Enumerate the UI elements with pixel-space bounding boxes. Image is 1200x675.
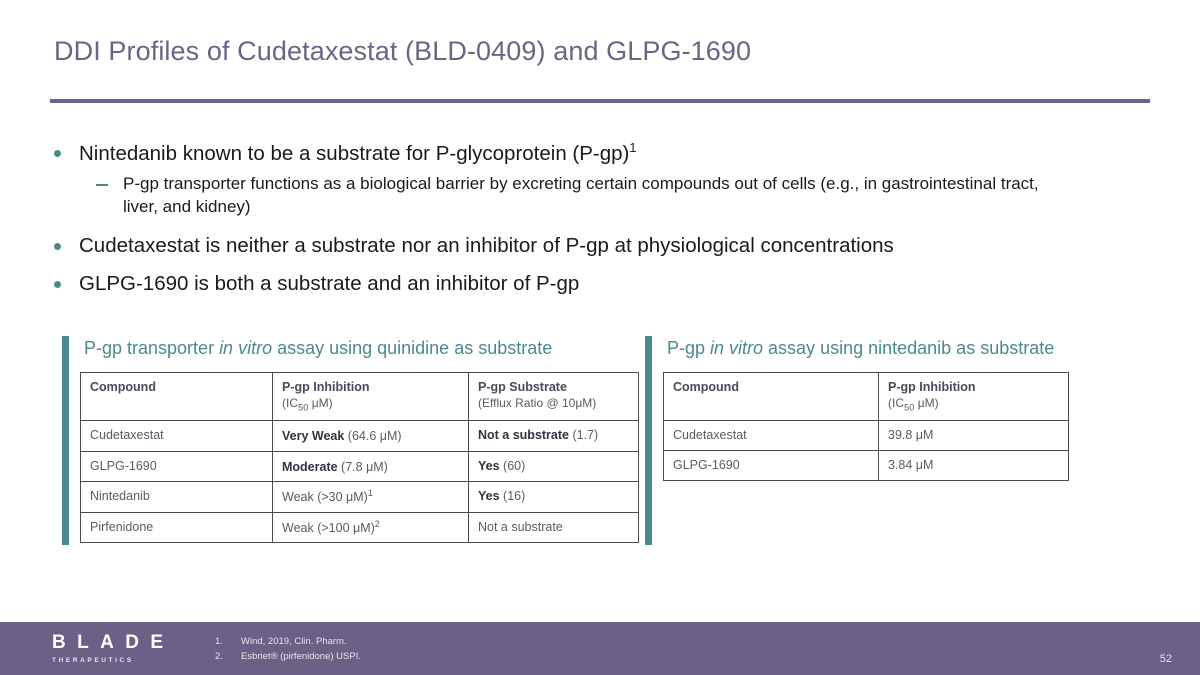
cell-substrate: Not a substrate bbox=[469, 512, 639, 542]
cell-compound: Nintedanib bbox=[81, 482, 273, 512]
footnote-item: 2. Esbriet® (pirfenidone) USPI. bbox=[215, 650, 361, 665]
cell-compound: Cudetaxestat bbox=[664, 421, 879, 451]
bullet-list: Nintedanib known to be a substrate for P… bbox=[54, 140, 1144, 304]
table-row: Nintedanib Weak (>30 μM)1 Yes (16) bbox=[81, 482, 639, 512]
brand-logo: B L A D E THERAPEUTICS bbox=[52, 633, 164, 664]
logo-letter: B bbox=[52, 633, 67, 652]
panel-accent-bar bbox=[645, 336, 652, 545]
column-header-inhibition: P-gp Inhibition (IC50 μM) bbox=[273, 372, 469, 421]
page-number: 52 bbox=[1160, 653, 1172, 665]
footnote-number: 2. bbox=[215, 650, 241, 665]
footnote-number: 1. bbox=[215, 635, 241, 650]
table-row: GLPG-1690 3.84 μM bbox=[664, 451, 1069, 481]
logo-tagline: THERAPEUTICS bbox=[52, 657, 164, 664]
column-header-substrate: P-gp Substrate (Efflux Ratio @ 10μM) bbox=[469, 372, 639, 421]
footnote-item: 1. Wind, 2019, Clin. Pharm. bbox=[215, 635, 361, 650]
list-item: Cudetaxestat is neither a substrate nor … bbox=[54, 233, 1144, 260]
table-row: GLPG-1690 Moderate (7.8 μM) Yes (60) bbox=[81, 451, 639, 481]
left-assay-table: Compound P-gp Inhibition (IC50 μM) P-gp … bbox=[80, 372, 639, 544]
logo-letter: L bbox=[77, 633, 90, 652]
bullet-dash-icon bbox=[96, 184, 108, 186]
cell-compound: Cudetaxestat bbox=[81, 421, 273, 451]
cell-compound: GLPG-1690 bbox=[81, 451, 273, 481]
bullet-dot-icon bbox=[54, 243, 61, 250]
panel-accent-bar bbox=[62, 336, 69, 545]
left-panel-heading: P-gp transporter in vitro assay using qu… bbox=[84, 336, 647, 360]
left-assay-panel: P-gp transporter in vitro assay using qu… bbox=[62, 336, 647, 543]
bullet-dot-icon bbox=[54, 281, 61, 288]
list-item: Nintedanib known to be a substrate for P… bbox=[54, 140, 1144, 167]
column-header-compound: Compound bbox=[664, 372, 879, 421]
bullet-text: Cudetaxestat is neither a substrate nor … bbox=[79, 233, 894, 260]
bullet-dot-icon bbox=[54, 150, 61, 157]
cell-inhibition: Weak (>30 μM)1 bbox=[273, 482, 469, 512]
right-assay-table: Compound P-gp Inhibition (IC50 μM) Cudet… bbox=[663, 372, 1069, 482]
logo-letter: E bbox=[150, 633, 164, 652]
cell-inhibition: 3.84 μM bbox=[879, 451, 1069, 481]
cell-substrate: Yes (16) bbox=[469, 482, 639, 512]
cell-inhibition: Very Weak (64.6 μM) bbox=[273, 421, 469, 451]
column-header-compound: Compound bbox=[81, 372, 273, 421]
footnote-text: Esbriet® (pirfenidone) USPI. bbox=[241, 650, 361, 665]
bullet-text: Nintedanib known to be a substrate for P… bbox=[79, 140, 636, 167]
bullet-text: GLPG-1690 is both a substrate and an inh… bbox=[79, 271, 579, 298]
logo-wordmark: B L A D E bbox=[52, 633, 164, 652]
logo-letter: A bbox=[100, 633, 115, 652]
slide-footer: B L A D E THERAPEUTICS 1. Wind, 2019, Cl… bbox=[0, 622, 1200, 675]
right-assay-panel: P-gp in vitro assay using nintedanib as … bbox=[645, 336, 1085, 481]
table-row: Cudetaxestat Very Weak (64.6 μM) Not a s… bbox=[81, 421, 639, 451]
footnote-ref: 1 bbox=[629, 140, 636, 155]
cell-substrate: Not a substrate (1.7) bbox=[469, 421, 639, 451]
page-title: DDI Profiles of Cudetaxestat (BLD-0409) … bbox=[54, 36, 751, 67]
cell-substrate: Yes (60) bbox=[469, 451, 639, 481]
column-header-inhibition: P-gp Inhibition (IC50 μM) bbox=[879, 372, 1069, 421]
list-item: P-gp transporter functions as a biologic… bbox=[54, 173, 1144, 219]
cell-compound: GLPG-1690 bbox=[664, 451, 879, 481]
footnote-text: Wind, 2019, Clin. Pharm. bbox=[241, 635, 347, 650]
table-row: Pirfenidone Weak (>100 μM)2 Not a substr… bbox=[81, 512, 639, 542]
cell-inhibition: Weak (>100 μM)2 bbox=[273, 512, 469, 542]
cell-inhibition: Moderate (7.8 μM) bbox=[273, 451, 469, 481]
title-divider bbox=[50, 99, 1150, 103]
bullet-text: P-gp transporter functions as a biologic… bbox=[123, 173, 1053, 219]
cell-compound: Pirfenidone bbox=[81, 512, 273, 542]
table-header-row: Compound P-gp Inhibition (IC50 μM) bbox=[664, 372, 1069, 421]
logo-letter: D bbox=[125, 633, 140, 652]
table-header-row: Compound P-gp Inhibition (IC50 μM) P-gp … bbox=[81, 372, 639, 421]
cell-inhibition: 39.8 μM bbox=[879, 421, 1069, 451]
list-item: GLPG-1690 is both a substrate and an inh… bbox=[54, 271, 1144, 298]
footnote-list: 1. Wind, 2019, Clin. Pharm. 2. Esbriet® … bbox=[215, 635, 361, 664]
table-row: Cudetaxestat 39.8 μM bbox=[664, 421, 1069, 451]
right-panel-heading: P-gp in vitro assay using nintedanib as … bbox=[667, 336, 1085, 360]
